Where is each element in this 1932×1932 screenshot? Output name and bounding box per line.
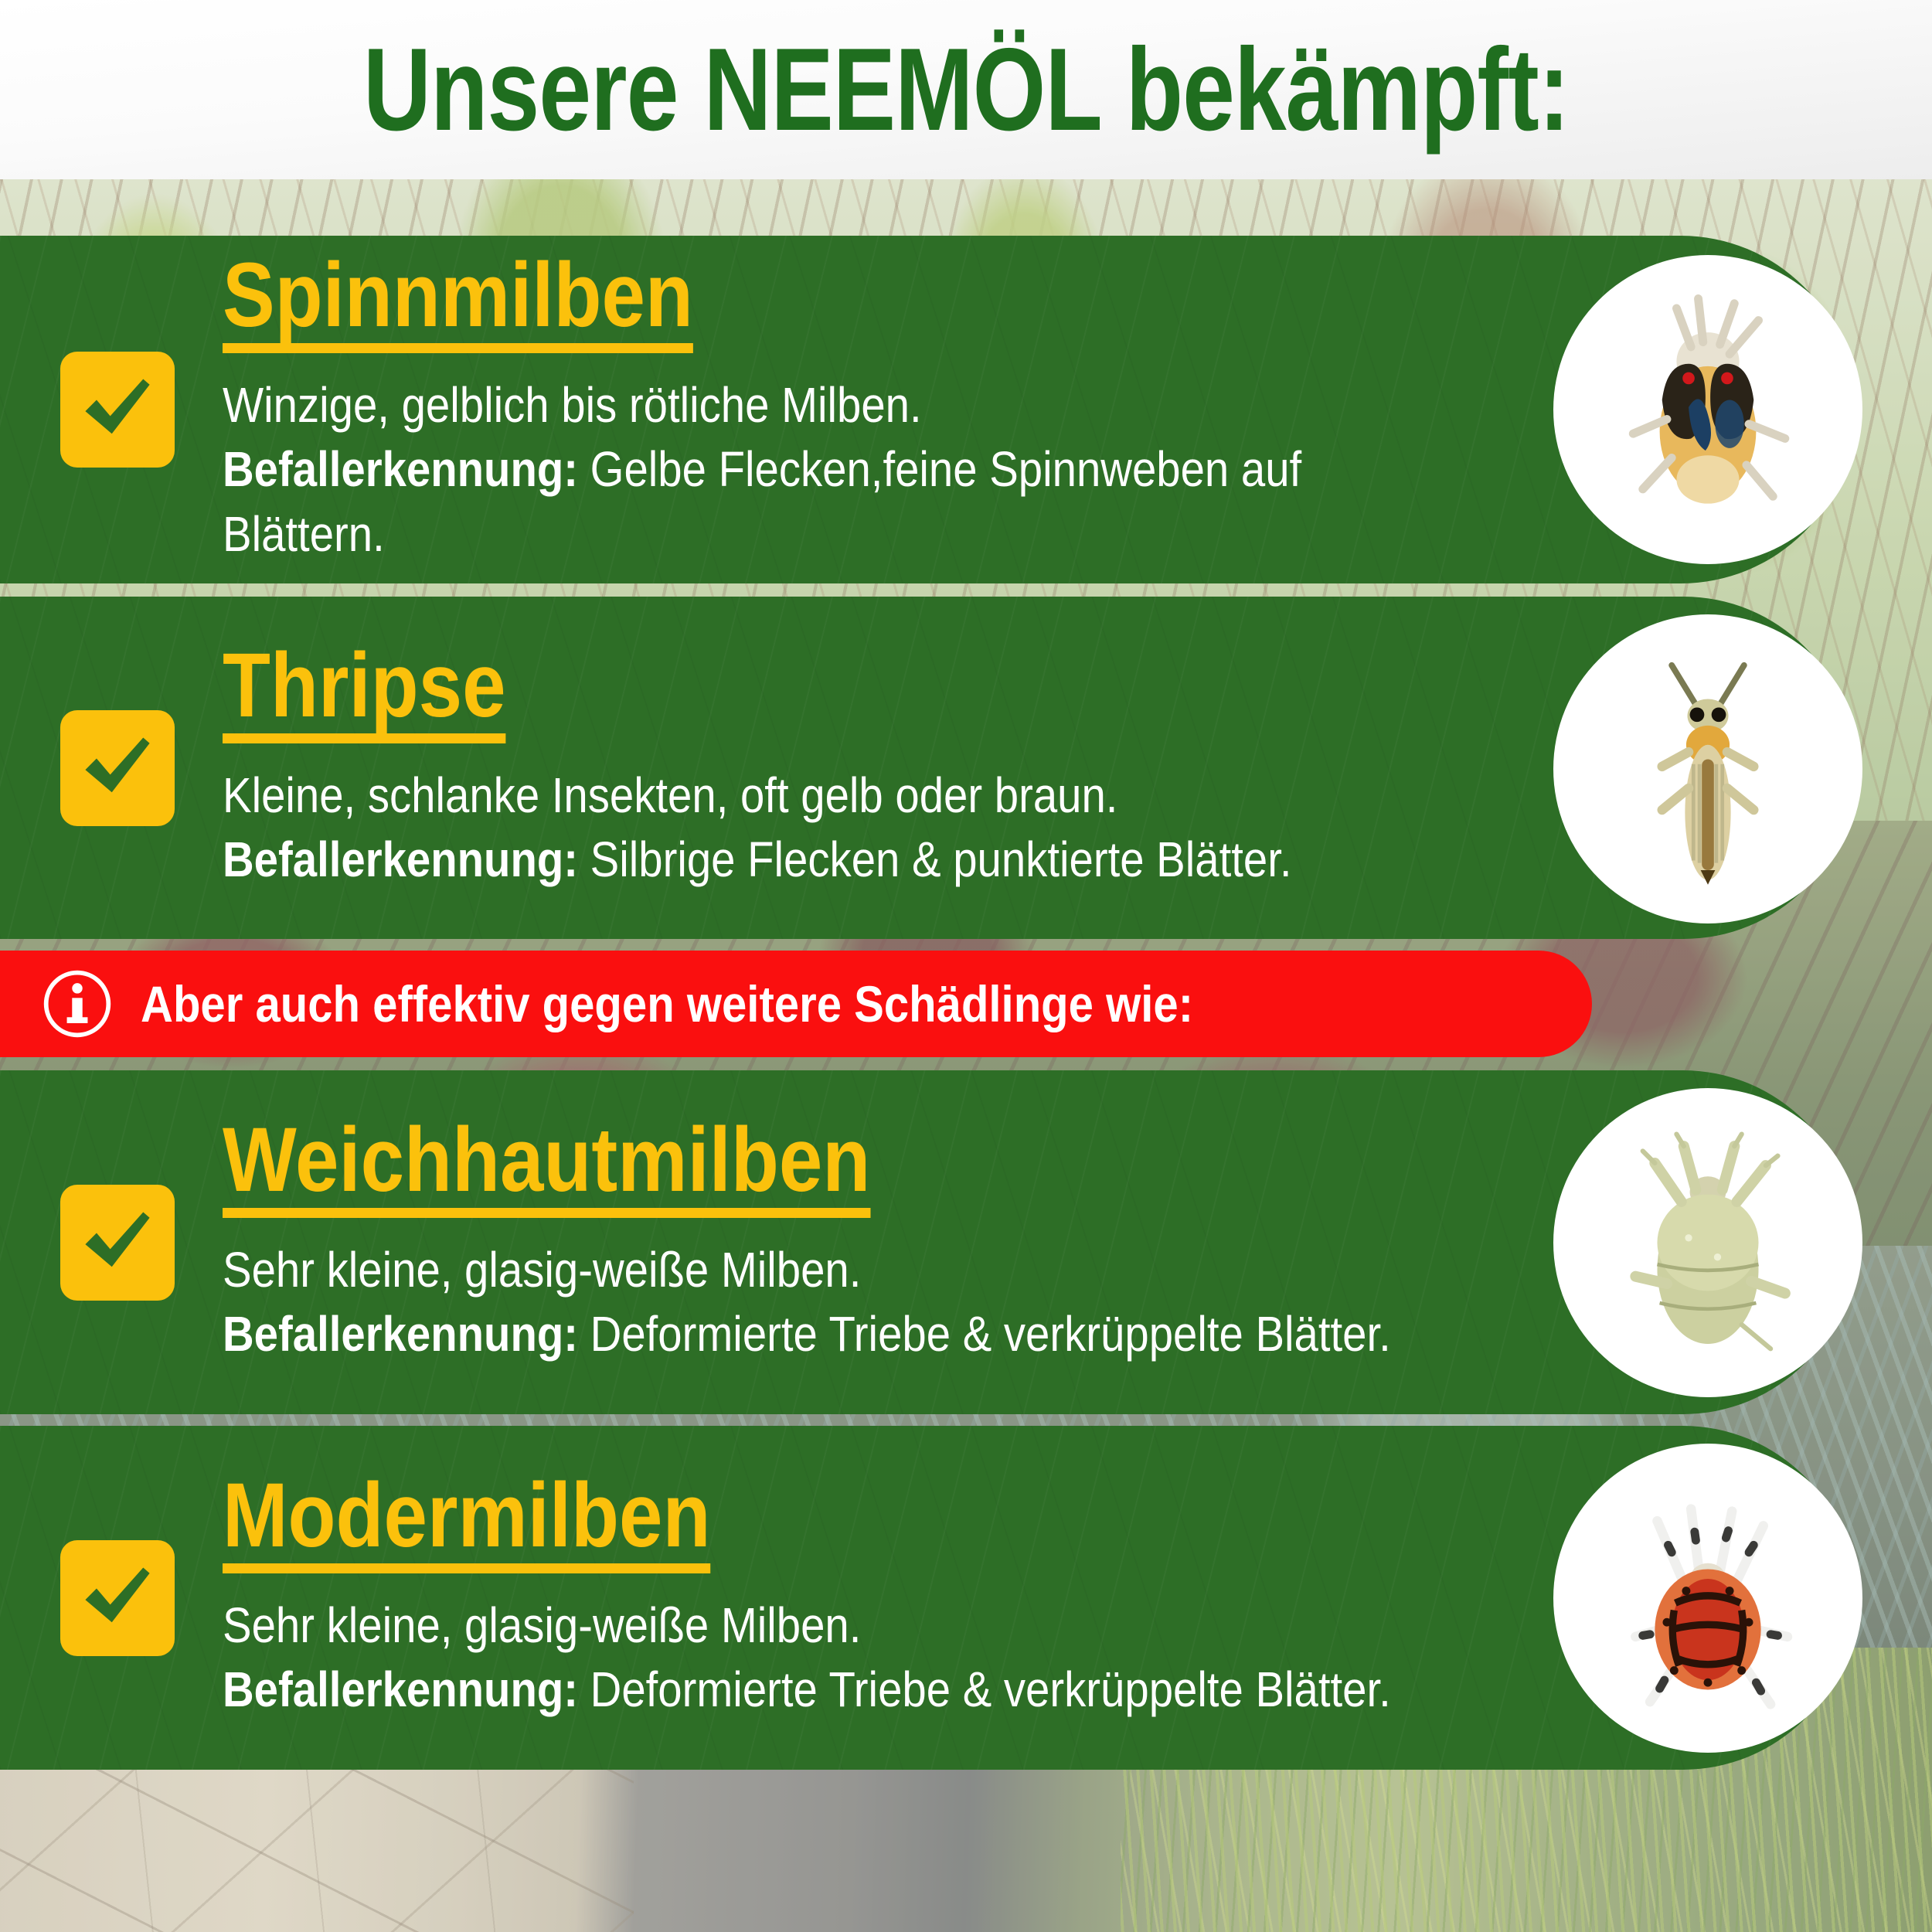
- checkmark-badge-thripse: [60, 710, 175, 826]
- pest-photo-weichhautmilben: [1553, 1088, 1862, 1397]
- detection-label: Befallerkennung:: [223, 1662, 578, 1717]
- checkmark-badge-weichhautmilben: [60, 1185, 175, 1301]
- checkmark-icon: [77, 1558, 158, 1638]
- checkmark-icon: [77, 728, 158, 808]
- pest-description-line: Winzige, gelblich bis rötliche Milben.: [223, 373, 1301, 437]
- pest-detection-line: Befallerkennung: Gelbe Flecken,feine Spi…: [223, 437, 1301, 502]
- detection-text: Gelbe Flecken,feine Spinnweben auf: [590, 441, 1302, 497]
- pest-description-weichhautmilben: Sehr kleine, glasig-weiße Milben. Befall…: [223, 1238, 1391, 1366]
- pest-title-thripse: Thripse: [223, 643, 506, 743]
- header-band: Unsere NEEMÖL bekämpft:: [0, 0, 1932, 179]
- pest-title-weichhautmilben: Weichhautmilben: [223, 1117, 870, 1218]
- pest-description-spinnmilben: Winzige, gelblich bis rötliche Milben. B…: [223, 373, 1301, 566]
- alert-banner: Aber auch effektiv gegen weitere Schädli…: [0, 951, 1592, 1057]
- pest-description-line: Sehr kleine, glasig-weiße Milben.: [223, 1238, 1391, 1302]
- pest-card-body-spinnmilben: Spinnmilben Winzige, gelblich bis rötlic…: [223, 253, 1449, 566]
- pest-title-spinnmilben: Spinnmilben: [223, 253, 693, 353]
- spider-mite-photo: [1587, 289, 1828, 530]
- pest-photo-spinnmilben: [1553, 255, 1862, 564]
- pest-title-modermilben: Modermilben: [223, 1473, 710, 1573]
- pest-photo-thripse: [1553, 614, 1862, 923]
- pest-card-body-thripse: Thripse Kleine, schlanke Insekten, oft g…: [223, 643, 1437, 892]
- pest-photo-modermilben: [1553, 1444, 1862, 1753]
- detection-label: Befallerkennung:: [223, 441, 578, 497]
- info-circle-icon: [40, 967, 114, 1041]
- detection-text: Deformierte Triebe & verkrüppelte Blätte…: [590, 1662, 1391, 1717]
- pest-description-thripse: Kleine, schlanke Insekten, oft gelb oder…: [223, 764, 1291, 892]
- pest-detection-line-2: Blättern.: [223, 502, 1301, 566]
- checkmark-badge-spinnmilben: [60, 352, 175, 468]
- thrips-photo: [1587, 648, 1828, 889]
- checkmark-icon: [77, 1202, 158, 1283]
- soft-mite-photo: [1587, 1122, 1828, 1363]
- detection-text: Silbrige Flecken & punktierte Blätter.: [590, 832, 1292, 887]
- detection-label: Befallerkennung:: [223, 1306, 578, 1362]
- detection-text: Deformierte Triebe & verkrüppelte Blätte…: [590, 1306, 1391, 1362]
- detection-label: Befallerkennung:: [223, 832, 578, 887]
- page-title: Unsere NEEMÖL bekämpft:: [363, 31, 1570, 148]
- pest-detection-line: Befallerkennung: Deformierte Triebe & ve…: [223, 1302, 1391, 1366]
- pest-card-body-modermilben: Modermilben Sehr kleine, glasig-weiße Mi…: [223, 1473, 1550, 1722]
- pest-description-modermilben: Sehr kleine, glasig-weiße Milben. Befall…: [223, 1594, 1391, 1722]
- checkmark-icon: [77, 369, 158, 450]
- checkmark-badge-modermilben: [60, 1540, 175, 1656]
- red-mite-photo: [1587, 1478, 1828, 1719]
- pest-description-line: Kleine, schlanke Insekten, oft gelb oder…: [223, 764, 1291, 828]
- pest-detection-line: Befallerkennung: Deformierte Triebe & ve…: [223, 1658, 1391, 1722]
- infographic-stage: Unsere NEEMÖL bekämpft: Spinnmilben Winz…: [0, 0, 1932, 1932]
- pest-description-line: Sehr kleine, glasig-weiße Milben.: [223, 1594, 1391, 1658]
- pest-card-body-weichhautmilben: Weichhautmilben Sehr kleine, glasig-weiß…: [223, 1117, 1550, 1366]
- pest-detection-line: Befallerkennung: Silbrige Flecken & punk…: [223, 828, 1291, 892]
- alert-banner-text: Aber auch effektiv gegen weitere Schädli…: [141, 975, 1193, 1033]
